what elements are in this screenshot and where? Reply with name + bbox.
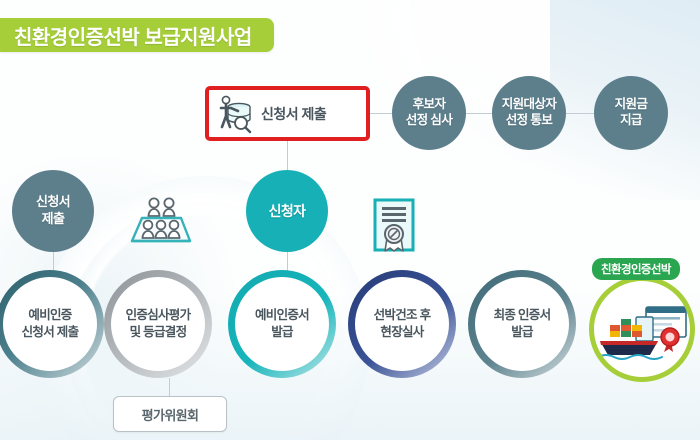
bottom-step-review-grading-inner: 인증심사평가 및 등급결정	[111, 277, 205, 371]
bottom-step-onsite-inspection-inner: 선박건조 후 현장실사	[355, 277, 449, 371]
bottom-step-final-certificate-issue-inner: 최종 인증서 발급	[475, 277, 569, 371]
bottom-step-prelim-certificate-issue-line1: 예비인증서	[255, 307, 309, 324]
connector-redbox-to-step1	[370, 113, 392, 114]
bottom-step-review-grading-line1: 인증심사평가	[126, 307, 191, 324]
highlight-application-box[interactable]: 신청서 제출	[205, 86, 370, 141]
connector-applicant-to-ring-c	[287, 252, 288, 272]
connector-midleft-to-ring-a	[53, 252, 54, 272]
top-step-subsidy-payment[interactable]: 지원금 지급	[594, 76, 668, 150]
infographic-canvas: 친환경인증선박 보급지원사업 신청서 제출 후보자 선정 심사	[0, 0, 700, 440]
bottom-step-final-certificate-issue-line2: 발급	[511, 324, 533, 341]
committee-meeting-icon	[128, 196, 194, 252]
top-step-candidate-review-line1: 후보자	[413, 97, 446, 113]
mid-node-application-submit-line1: 신청서	[36, 194, 70, 211]
result-tag-label: 친환경인증선박	[601, 264, 671, 276]
top-step-candidate-review-line2: 선정 심사	[406, 113, 452, 129]
evaluation-committee-label: 평가위원회	[142, 405, 199, 424]
top-step-recipient-notice[interactable]: 지원대상자 선정 통보	[492, 76, 566, 150]
result-tag: 친환경인증선박	[592, 258, 680, 280]
bottom-step-prelim-application-inner: 예비인증 신청서 제출	[3, 277, 97, 371]
bottom-step-final-certificate-issue[interactable]: 최종 인증서 발급	[468, 270, 576, 378]
certificate-award-icon	[372, 198, 416, 258]
top-step-candidate-review[interactable]: 후보자 선정 심사	[392, 76, 466, 150]
connector-redbox-to-applicant	[287, 141, 288, 171]
evaluation-committee-box[interactable]: 평가위원회	[113, 396, 227, 432]
bottom-step-prelim-application[interactable]: 예비인증 신청서 제출	[0, 270, 104, 378]
top-step-subsidy-payment-line2: 지급	[620, 113, 642, 129]
connector-step2-to-step3	[566, 113, 594, 114]
top-step-recipient-notice-line2: 선정 통보	[506, 113, 552, 129]
bottom-step-prelim-application-line2: 신청서 제출	[22, 324, 79, 341]
person-database-search-icon	[217, 94, 255, 134]
mid-node-applicant-label: 신청자	[269, 201, 306, 221]
page-title-banner: 친환경인증선박 보급지원사업	[0, 18, 274, 52]
highlight-application-label: 신청서 제출	[261, 104, 326, 124]
bottom-step-prelim-certificate-issue-line2: 발급	[271, 324, 293, 341]
connector-step1-to-step2	[466, 113, 492, 114]
bottom-step-onsite-inspection[interactable]: 선박건조 후 현장실사	[348, 270, 456, 378]
mid-node-applicant[interactable]: 신청자	[246, 170, 328, 252]
page-title: 친환경인증선박 보급지원사업	[14, 21, 252, 50]
result-eco-certified-ship[interactable]	[589, 276, 695, 382]
top-step-recipient-notice-line1: 지원대상자	[502, 97, 557, 113]
mid-node-application-submit-line2: 제출	[42, 211, 65, 228]
top-step-subsidy-payment-line1: 지원금	[615, 97, 648, 113]
bottom-step-onsite-inspection-line2: 현장실사	[380, 324, 423, 341]
bottom-step-review-grading[interactable]: 인증심사평가 및 등급결정	[104, 270, 212, 378]
bottom-step-prelim-application-line1: 예비인증	[28, 307, 71, 324]
connector-ring-b-to-committee	[169, 378, 170, 397]
bottom-step-prelim-certificate-issue-inner: 예비인증서 발급	[235, 277, 329, 371]
mid-node-application-submit[interactable]: 신청서 제출	[12, 170, 94, 252]
bottom-step-onsite-inspection-line1: 선박건조 후	[374, 307, 431, 324]
bottom-step-final-certificate-issue-line1: 최종 인증서	[494, 307, 551, 324]
bottom-step-review-grading-line2: 및 등급결정	[130, 324, 187, 341]
cargo-ship-certificate-icon	[596, 293, 688, 365]
bottom-step-prelim-certificate-issue[interactable]: 예비인증서 발급	[228, 270, 336, 378]
